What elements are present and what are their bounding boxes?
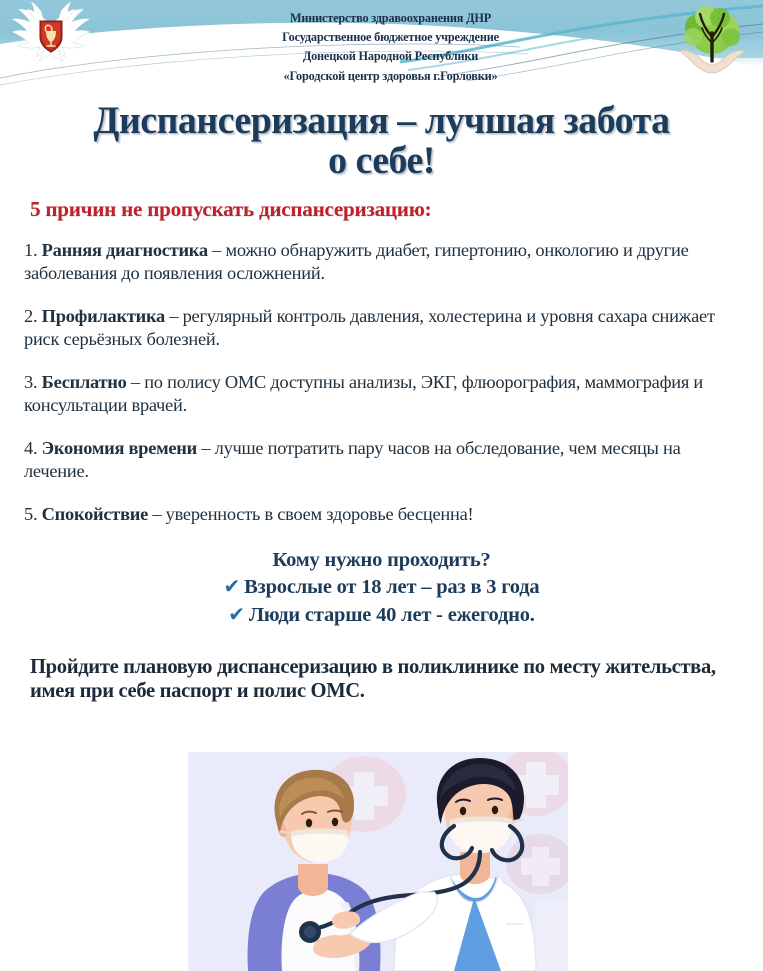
reason-number: 4.	[24, 438, 37, 458]
who-item: ✔Люди старше 40 лет - ежегодно.	[0, 601, 763, 629]
who-section: Кому нужно проходить? ✔Взрослые от 18 ле…	[0, 547, 763, 629]
reason-item: 5. Спокойствие – уверенность в своем здо…	[24, 503, 741, 526]
reason-text: – уверенность в своем здоровье бесценна!	[148, 504, 473, 524]
reason-item: 3. Бесплатно – по полису ОМС доступны ан…	[24, 371, 741, 416]
checkmark-icon: ✔	[228, 602, 245, 626]
page-title: Диспансеризация – лучшая забота о себе!	[11, 101, 751, 181]
who-item: ✔Взрослые от 18 лет – раз в 3 года	[0, 573, 763, 601]
who-item-label: Люди старше 40 лет - ежегодно.	[249, 604, 535, 626]
doctor-examining-patient-with-stethoscope	[188, 752, 568, 971]
reasons-list: 1. Ранняя диагностика – можно обнаружить…	[24, 239, 741, 526]
reason-keyword: Ранняя диагностика	[42, 240, 208, 260]
org-line-3: Донецкой Народной Республики	[18, 47, 763, 66]
org-line-1: Министерство здравоохранения ДНР	[18, 9, 763, 28]
reason-keyword: Бесплатно	[42, 372, 127, 392]
reason-item: 2. Профилактика – регулярный контроль да…	[24, 305, 741, 350]
checkmark-icon: ✔	[224, 574, 241, 598]
org-line-2: Государственное бюджетное учреждение	[18, 28, 763, 47]
page-title-line-2: о себе!	[11, 141, 751, 181]
reason-item: 1. Ранняя диагностика – можно обнаружить…	[24, 239, 741, 284]
who-section-title: Кому нужно проходить?	[0, 547, 763, 573]
illustration-container	[188, 752, 568, 971]
reason-number: 1.	[24, 240, 37, 260]
reason-item: 4. Экономия времени – лучше потратить па…	[24, 437, 741, 482]
reason-keyword: Спокойствие	[42, 504, 148, 524]
who-item-label: Взрослые от 18 лет – раз в 3 года	[244, 576, 539, 598]
organization-name: Министерство здравоохранения ДНР Государ…	[0, 9, 763, 86]
reason-text: – по полису ОМС доступны анализы, ЭКГ, ф…	[24, 372, 703, 415]
reason-number: 3.	[24, 372, 37, 392]
reason-keyword: Экономия времени	[42, 438, 197, 458]
reason-number: 2.	[24, 306, 37, 326]
page-title-line-1: Диспансеризация – лучшая забота	[11, 101, 751, 141]
reasons-subheading: 5 причин не пропускать диспансеризацию:	[30, 197, 763, 221]
reason-keyword: Профилактика	[42, 306, 165, 326]
org-line-4: «Городской центр здоровья г.Горловки»	[18, 67, 763, 86]
reason-number: 5.	[24, 504, 37, 524]
page-header: Министерство здравоохранения ДНР Государ…	[0, 0, 763, 95]
call-to-action-text: Пройдите плановую диспансеризацию в поли…	[30, 655, 741, 704]
